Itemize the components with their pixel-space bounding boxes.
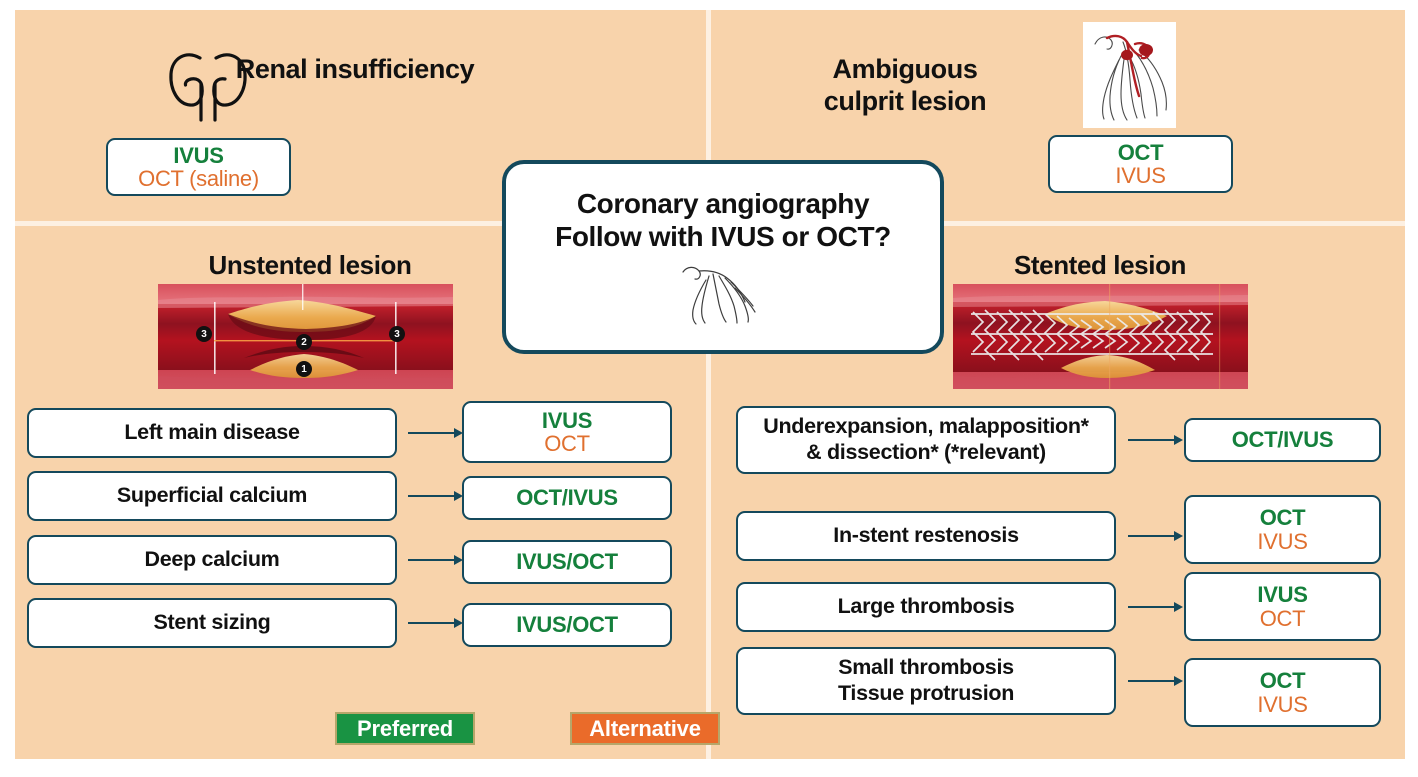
stented-preferred-0: OCT/IVUS (1232, 428, 1334, 451)
ambiguous-culprit-title-line2: culprit lesion (755, 86, 1055, 116)
unstented-arrow-2 (408, 554, 464, 566)
ambiguous-preferred-label: OCT (1118, 141, 1164, 164)
legend-preferred-badge: Preferred (335, 712, 475, 745)
stented-row-label-text-3b: Tissue protrusion (838, 681, 1014, 707)
legend-preferred-label: Preferred (357, 716, 453, 742)
stented-recommendation-0[interactable]: OCT/IVUS (1184, 418, 1381, 462)
unstented-recommendation-0[interactable]: IVUS OCT (462, 401, 672, 463)
unstented-row-label-text-1: Superficial calcium (117, 483, 307, 509)
stented-row-label-0[interactable]: Underexpansion, malapposition* & dissect… (736, 406, 1116, 474)
stented-arrow-1 (1128, 530, 1184, 542)
stented-preferred-3: OCT (1260, 669, 1306, 692)
unstented-row-label-2[interactable]: Deep calcium (27, 535, 397, 585)
unstented-arrow-1 (408, 490, 464, 502)
unstented-preferred-1: OCT/IVUS (516, 486, 618, 509)
unstented-recommendation-1[interactable]: OCT/IVUS (462, 476, 672, 520)
vessel-marker-3-left: 3 (196, 326, 212, 342)
stented-preferred-1: OCT (1260, 506, 1306, 529)
unstented-alternative-0: OCT (544, 432, 590, 455)
stented-recommendation-1[interactable]: OCT IVUS (1184, 495, 1381, 564)
stented-row-label-text-3a: Small thrombosis (838, 655, 1014, 681)
unstented-row-label-text-0: Left main disease (124, 420, 299, 446)
unstented-preferred-0: IVUS (542, 409, 592, 432)
unstented-arrow-3 (408, 617, 464, 629)
ambiguous-recommendation-box[interactable]: OCT IVUS (1048, 135, 1233, 193)
unstented-recommendation-3[interactable]: IVUS/OCT (462, 603, 672, 647)
vessel-marker-1: 1 (296, 361, 312, 377)
stented-alternative-2: OCT (1260, 607, 1306, 630)
stented-preferred-2: IVUS (1257, 583, 1307, 606)
unstented-row-label-text-2: Deep calcium (144, 547, 279, 573)
unstented-lesion-vessel-illustration: 3 3 2 1 (158, 284, 453, 389)
stented-recommendation-2[interactable]: IVUS OCT (1184, 572, 1381, 641)
angiogram-image (1083, 22, 1176, 128)
stented-lesion-vessel-illustration (953, 284, 1248, 389)
ambiguous-alternative-label: IVUS (1115, 164, 1165, 187)
central-question-line1: Coronary angiography (577, 188, 869, 221)
unstented-recommendation-2[interactable]: IVUS/OCT (462, 540, 672, 584)
stented-alternative-1: IVUS (1257, 530, 1307, 553)
coronary-tree-icon (675, 262, 771, 326)
legend-alternative-badge: Alternative (570, 712, 720, 745)
stented-arrow-2 (1128, 601, 1184, 613)
stented-recommendation-3[interactable]: OCT IVUS (1184, 658, 1381, 727)
unstented-preferred-3: IVUS/OCT (516, 613, 618, 636)
central-question-line2: Follow with IVUS or OCT? (555, 221, 891, 254)
renal-alternative-label: OCT (saline) (138, 167, 259, 190)
stented-arrow-0 (1128, 434, 1184, 446)
kidneys-icon (160, 40, 260, 125)
renal-recommendation-box[interactable]: IVUS OCT (saline) (106, 138, 291, 196)
stented-row-label-2[interactable]: Large thrombosis (736, 582, 1116, 632)
stented-row-label-text-0b: & dissection* (*relevant) (806, 440, 1046, 466)
stented-lesion-title: Stented lesion (925, 251, 1275, 280)
ambiguous-culprit-title-line1: Ambiguous (755, 54, 1055, 84)
stented-arrow-3 (1128, 675, 1184, 687)
diagram-root: Renal insufficiency IVUS OCT (saline) Am… (0, 0, 1418, 777)
unstented-preferred-2: IVUS/OCT (516, 550, 618, 573)
stented-row-label-text-1a: In-stent restenosis (833, 523, 1018, 549)
vertical-divider (706, 10, 711, 759)
renal-preferred-label: IVUS (173, 144, 223, 167)
stented-row-label-3[interactable]: Small thrombosis Tissue protrusion (736, 647, 1116, 715)
unstented-arrow-0 (408, 427, 464, 439)
vessel-marker-2: 2 (296, 334, 312, 350)
unstented-row-label-text-3: Stent sizing (153, 610, 270, 636)
legend-alternative-label: Alternative (589, 716, 701, 742)
unstented-lesion-title: Unstented lesion (135, 251, 485, 280)
unstented-row-label-3[interactable]: Stent sizing (27, 598, 397, 648)
stented-row-label-text-2a: Large thrombosis (838, 594, 1015, 620)
stented-alternative-3: IVUS (1257, 693, 1307, 716)
stented-row-label-1[interactable]: In-stent restenosis (736, 511, 1116, 561)
stented-row-label-text-0a: Underexpansion, malapposition* (763, 414, 1089, 440)
unstented-row-label-1[interactable]: Superficial calcium (27, 471, 397, 521)
vessel-marker-3-right: 3 (389, 326, 405, 342)
central-question-box[interactable]: Coronary angiography Follow with IVUS or… (502, 160, 944, 354)
unstented-row-label-0[interactable]: Left main disease (27, 408, 397, 458)
diagram-panel: Renal insufficiency IVUS OCT (saline) Am… (15, 10, 1405, 759)
